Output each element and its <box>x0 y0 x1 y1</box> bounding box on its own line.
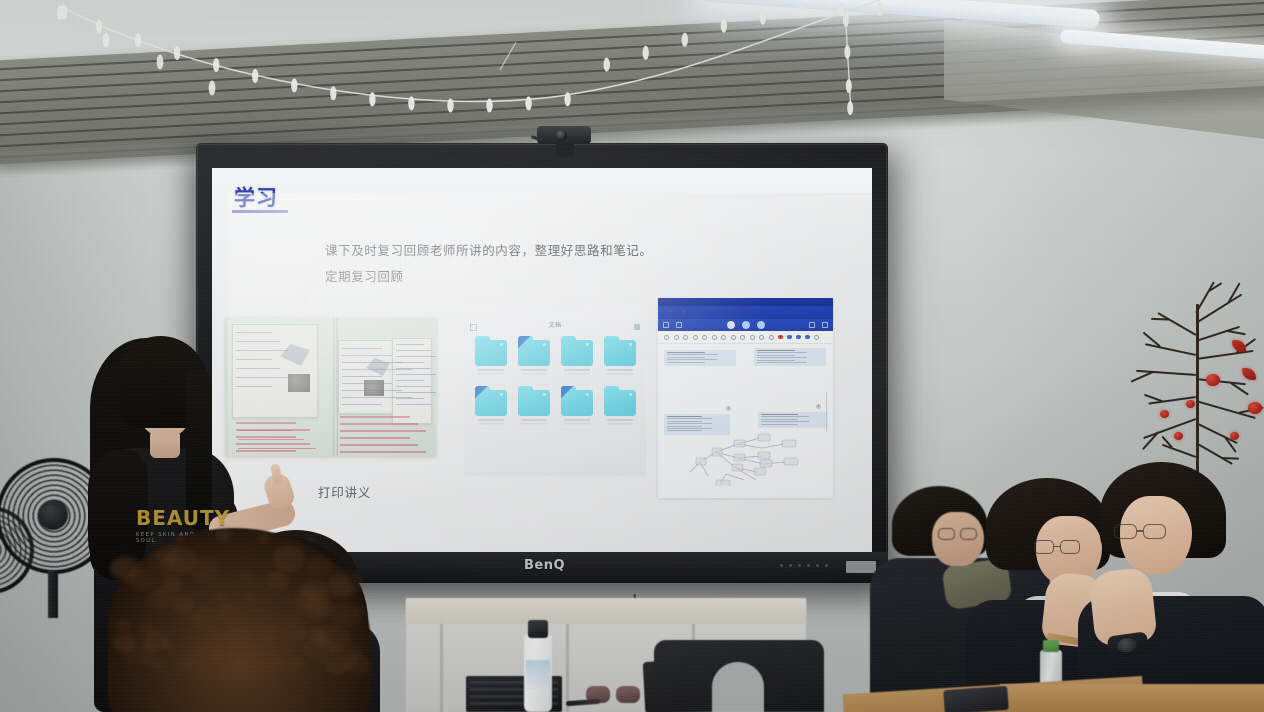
slide-title: 学习 <box>234 182 278 212</box>
tree-twig <box>1221 457 1239 459</box>
tree-twig <box>1151 318 1170 320</box>
note-text-line <box>757 355 795 356</box>
slide-caption: 打印讲义 <box>318 482 371 501</box>
folder-item[interactable] <box>470 390 511 428</box>
color-swatch-2[interactable] <box>796 335 801 340</box>
folder-icon[interactable] <box>604 390 636 416</box>
mail-icon[interactable] <box>742 321 750 329</box>
app-content-area: i i <box>658 344 833 498</box>
folder-sheen <box>500 343 503 346</box>
notebook-handwriting-line <box>340 444 418 446</box>
string-light-bulb <box>135 33 141 47</box>
folder-item[interactable] <box>556 340 597 378</box>
hair-curl <box>115 619 132 632</box>
layer-icon[interactable] <box>769 335 774 340</box>
red-lantern-ornament <box>1186 400 1195 408</box>
app-ribbon[interactable] <box>658 319 833 331</box>
folder-grid <box>470 340 640 428</box>
slide-title-underline <box>232 210 288 213</box>
note-text-line <box>667 352 705 353</box>
hair-curl <box>252 651 282 675</box>
notebook-handwriting-line <box>396 368 431 369</box>
folder-icon[interactable] <box>604 340 636 366</box>
search-icon[interactable] <box>676 322 682 328</box>
hair-curl <box>330 602 361 627</box>
slide-body-line-2: 定期复习回顾 <box>325 266 404 285</box>
hair-curl <box>216 528 232 541</box>
folder-item[interactable] <box>599 390 640 428</box>
notebook-handwriting-line <box>396 380 424 381</box>
file-manager-status-bar <box>464 306 646 318</box>
hair-curl <box>329 644 344 656</box>
hair-curl <box>214 592 227 602</box>
note-taking-app-screenshot[interactable]: › › <box>658 298 833 498</box>
mind-map-edge <box>762 444 784 448</box>
mind-map-node <box>754 468 766 475</box>
folder-item[interactable] <box>599 340 640 378</box>
string-light-bulb <box>291 78 297 92</box>
webcam-lens <box>556 130 567 141</box>
note-block-left-top <box>664 350 736 366</box>
tree-branch <box>1162 444 1197 458</box>
string-light-bulb <box>252 69 258 83</box>
image-icon[interactable] <box>750 335 755 340</box>
chair-backrest-cutout <box>712 662 764 712</box>
notebook-handwriting-line <box>340 430 426 432</box>
folder-item[interactable] <box>556 390 597 428</box>
webcam-icon <box>537 126 591 144</box>
string-light-bulb <box>799 5 805 19</box>
wooden-table-front <box>1000 684 1264 712</box>
string-light-bulb <box>61 5 68 20</box>
benq-logo: BenQ <box>524 558 565 573</box>
compass-icon[interactable] <box>727 321 735 329</box>
string-light-bulb <box>96 20 102 34</box>
note-text-line <box>757 352 807 353</box>
string-light-bulb <box>564 92 570 106</box>
glasses-icon <box>1114 524 1170 540</box>
notebook-handwriting-line <box>396 350 431 351</box>
hair-curl <box>149 535 163 547</box>
hair-curl <box>306 557 332 578</box>
folder-icon[interactable] <box>561 340 593 366</box>
hair-curl <box>198 642 221 660</box>
notebook-handwriting-line <box>342 362 402 363</box>
select-icon[interactable] <box>731 335 736 340</box>
mind-map-node <box>734 454 745 461</box>
hair-curl <box>324 577 353 600</box>
note-text-line <box>667 423 712 424</box>
note-text-line <box>757 362 807 363</box>
note-text-line <box>667 418 712 419</box>
classroom-scene: 学习 课下及时复习回顾老师所讲的内容，整理好思路和笔记。 定期复习回顾 <box>0 0 1264 712</box>
string-light-bulb <box>213 58 219 72</box>
lasso-icon[interactable] <box>712 335 717 340</box>
note-block-right-bottom <box>758 412 828 428</box>
grid-icon[interactable] <box>663 322 669 328</box>
share-icon[interactable] <box>822 322 828 328</box>
notebook-handwriting-line <box>396 362 424 363</box>
string-light-bulb <box>174 46 180 60</box>
note-block-right-top <box>754 348 826 366</box>
folder-label <box>607 419 633 428</box>
redo-icon[interactable] <box>674 335 679 340</box>
bezel-label-tag <box>846 561 876 573</box>
note-text-line <box>761 414 798 415</box>
note-text-line <box>757 360 795 361</box>
color-swatch-3[interactable] <box>805 335 810 340</box>
mind-map-diagram <box>686 428 806 486</box>
string-light-bulb <box>369 92 375 106</box>
string-light-bulb <box>838 2 844 16</box>
notebook-handwriting-line <box>342 355 392 356</box>
note-text-line <box>667 354 717 355</box>
display-screen[interactable]: 学习 课下及时复习回顾老师所讲的内容，整理好思路和笔记。 定期复习回顾 <box>212 168 872 552</box>
folder-sheen <box>543 343 546 346</box>
folder-sheen <box>586 343 589 346</box>
string-light-bulb <box>330 86 336 100</box>
red-lantern-ornament <box>1242 368 1256 380</box>
string-light-bulb <box>682 33 688 47</box>
folder-item[interactable] <box>470 340 511 378</box>
more-options-icon[interactable] <box>634 324 640 330</box>
glasses-icon <box>938 528 980 541</box>
file-manager-title: 文档 <box>464 320 646 329</box>
hair-curl <box>265 624 276 633</box>
chevron-right-icon: › <box>669 310 671 315</box>
folder-label <box>521 369 547 378</box>
mind-map-node <box>760 460 772 467</box>
slide: 学习 课下及时复习回顾老师所讲的内容，整理好思路和笔记。 定期复习回顾 <box>212 168 872 552</box>
mind-map-node <box>758 452 770 459</box>
mind-map-node <box>734 440 745 447</box>
table-icon[interactable] <box>759 335 764 340</box>
office-chair <box>654 640 824 712</box>
tree-branch <box>1145 343 1196 356</box>
red-lantern-ornament <box>1174 432 1183 440</box>
note-text-line <box>761 419 798 420</box>
mind-map-node <box>732 464 743 471</box>
folder-icon[interactable] <box>475 390 507 416</box>
note-text-line <box>761 424 798 425</box>
hair-curl <box>207 627 228 644</box>
slide-body-line-1: 课下及时复习回顾老师所讲的内容，整理好思路和笔记。 <box>325 240 653 259</box>
string-light-bulb <box>877 2 883 16</box>
tree-twig <box>1226 330 1245 335</box>
hair-curl <box>142 643 154 653</box>
chevron-right-icon-2: › <box>683 310 685 315</box>
smartphone[interactable] <box>943 686 1009 712</box>
hair-curl <box>179 656 196 669</box>
notebook-handwriting-line <box>340 416 410 418</box>
folder-icon[interactable] <box>475 340 507 366</box>
highlighter-icon[interactable] <box>683 335 688 340</box>
audience-right-front <box>1084 462 1264 712</box>
hair-curl <box>173 533 186 543</box>
color-swatch-0[interactable] <box>778 335 783 340</box>
bottle-cap-green <box>1043 640 1059 652</box>
text-icon[interactable] <box>740 335 745 340</box>
sunglasses-on-desk <box>586 686 642 706</box>
string-light-bulb <box>843 13 849 27</box>
note-text-line <box>667 362 705 363</box>
color-swatch-1[interactable] <box>787 335 792 340</box>
app-title-bar <box>658 298 833 306</box>
folder-label <box>521 419 547 428</box>
string-light-bulb <box>846 79 852 93</box>
hair-curl <box>292 601 314 619</box>
hair-curl <box>243 592 256 603</box>
hair-curl <box>147 589 173 610</box>
red-lantern-ornament <box>1160 410 1169 418</box>
red-lantern-ornament <box>1248 402 1262 414</box>
info-icon-left[interactable]: i <box>726 406 731 411</box>
notebook-handwriting-line <box>340 451 426 453</box>
indicator-dots <box>780 564 828 567</box>
notebook-handwriting-line <box>396 344 424 345</box>
notebook-handwriting-line <box>342 390 402 391</box>
string-light-bulb <box>760 11 766 25</box>
app-tab-bar[interactable]: › › <box>658 306 833 319</box>
notebook-handwriting-line <box>342 376 382 377</box>
string-light-bulb <box>157 55 164 70</box>
note-text-line <box>667 359 717 360</box>
hair-curl <box>266 572 288 589</box>
notebook-handwriting-line <box>396 404 431 405</box>
glasses-icon <box>1034 540 1084 555</box>
folder-label <box>478 419 504 428</box>
notebook-handwriting-line <box>342 404 382 405</box>
folder-item[interactable] <box>513 390 554 428</box>
settings-icon[interactable] <box>809 322 815 328</box>
hair-curl <box>347 655 372 675</box>
hair-curl <box>190 611 203 621</box>
hair-curl <box>258 533 270 543</box>
annotation-toolbar[interactable] <box>658 331 833 344</box>
red-lantern-ornament <box>1232 340 1246 352</box>
help-icon[interactable] <box>814 335 819 340</box>
note-text-line <box>667 416 702 417</box>
hair-curl <box>148 656 164 669</box>
string-light-bulb <box>447 99 453 113</box>
mind-map-node <box>712 448 722 456</box>
red-lantern-ornament <box>1206 374 1220 386</box>
hair-curl <box>111 556 144 583</box>
note-text-line <box>757 350 795 351</box>
hair-curl <box>287 656 306 671</box>
folder-icon[interactable] <box>518 390 550 416</box>
hair-curl <box>171 595 195 614</box>
notebook-handwriting-line <box>396 386 431 387</box>
string-light-bulb <box>486 99 492 113</box>
string-light-bulb <box>604 58 610 72</box>
notebook-handwriting-line <box>396 374 436 375</box>
mind-map-node <box>696 458 706 465</box>
tree-branch <box>1196 378 1246 385</box>
hair-curl <box>213 612 227 623</box>
folder-item[interactable] <box>513 340 554 378</box>
notebook-handwriting-line <box>342 383 392 384</box>
string-light-bulb <box>847 101 853 115</box>
hair-curl <box>293 629 307 640</box>
folder-icon[interactable] <box>518 340 550 366</box>
notebook-handwriting-line <box>396 356 436 357</box>
mind-map-node <box>782 440 796 447</box>
note-text-line <box>761 421 809 422</box>
zoom-icon[interactable] <box>721 335 726 340</box>
hair-curl <box>189 557 220 582</box>
mind-map-node <box>716 480 730 486</box>
folder-label <box>564 419 590 428</box>
folder-sheen <box>629 343 632 346</box>
note-text-line <box>757 357 807 358</box>
note-text-line <box>667 426 702 427</box>
water-bottle <box>524 634 552 712</box>
folder-sheen <box>543 393 546 396</box>
string-lights <box>0 0 1264 130</box>
string-light-bulb <box>844 45 850 59</box>
hair-curl <box>309 630 328 645</box>
shape-icon[interactable] <box>702 335 707 340</box>
hair-curl <box>273 545 306 571</box>
tree-branch <box>1143 418 1196 439</box>
notebook-handwriting-line <box>396 392 436 393</box>
mind-map-node <box>784 458 798 465</box>
note-text-line <box>667 421 702 422</box>
string-light-bulb <box>525 96 531 110</box>
mind-map-node <box>758 434 770 441</box>
info-icon-right[interactable]: i <box>816 404 821 409</box>
tree-branch <box>1195 281 1215 313</box>
string-light-bulb <box>103 33 110 48</box>
note-text-line <box>761 416 809 417</box>
folder-sheen <box>629 393 632 396</box>
tree-branch <box>1157 312 1196 336</box>
notebook-handwriting-line <box>340 437 410 439</box>
folder-label <box>564 369 590 378</box>
undo-icon[interactable] <box>664 335 669 340</box>
cloud-icon[interactable] <box>757 321 765 329</box>
notebook-handwriting-line <box>396 398 424 399</box>
folder-label <box>607 369 633 378</box>
red-lantern-ornament <box>1230 432 1239 440</box>
fan-pole <box>48 570 58 618</box>
folder-sheen <box>586 393 589 396</box>
file-manager-screenshot[interactable]: 文档 <box>464 306 646 476</box>
notebook-handwriting-line <box>342 348 382 349</box>
desk-surface-back <box>406 598 806 624</box>
folder-label <box>478 369 504 378</box>
mind-map-edge <box>726 474 744 480</box>
notebook-handwriting-line <box>342 369 412 370</box>
string-light-bulb <box>209 81 216 96</box>
string-light-bulb <box>643 46 649 60</box>
hair-curl <box>224 626 252 649</box>
string-light-bulb <box>408 96 414 110</box>
note-text-line <box>667 357 705 358</box>
bottle-cap <box>528 620 548 638</box>
shirt-big-text: BEAUTY <box>136 506 214 530</box>
hair-curl <box>239 571 253 582</box>
folder-icon[interactable] <box>561 390 593 416</box>
folder-sheen <box>500 393 503 396</box>
notebook-handwriting-line <box>340 423 418 425</box>
bottle-label <box>526 660 550 690</box>
string-light-bulb <box>721 19 727 33</box>
eraser-icon[interactable] <box>693 335 698 340</box>
